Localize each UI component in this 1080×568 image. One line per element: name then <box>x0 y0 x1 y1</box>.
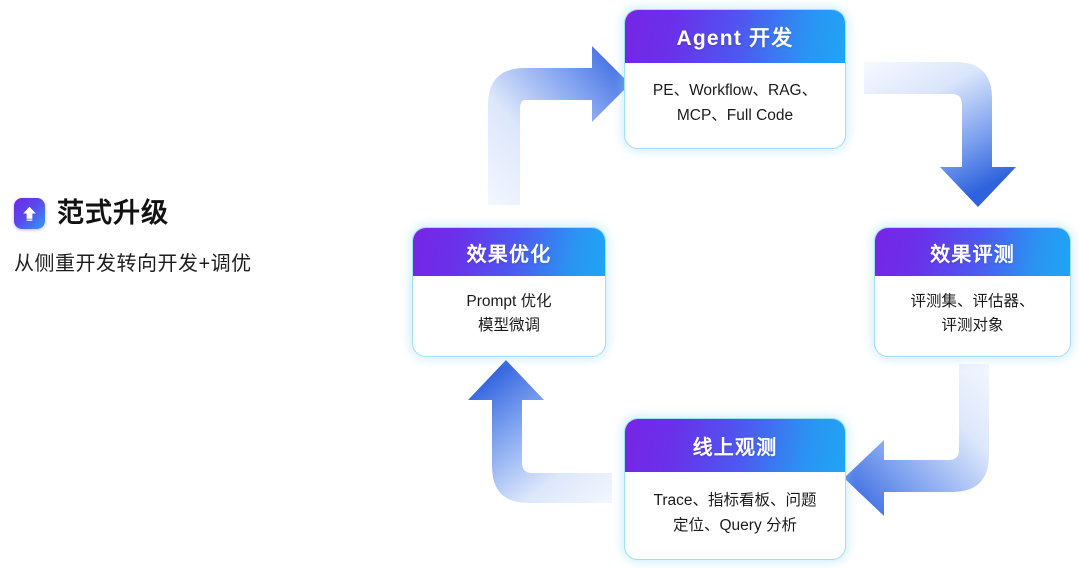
card-agent-dev[interactable]: Agent 开发 PE、Workflow、RAG、 MCP、Full Code <box>624 9 846 149</box>
card-eval-body: 评测集、评估器、 评测对象 <box>875 276 1070 356</box>
card-observe-body: Trace、指标看板、问题 定位、Query 分析 <box>625 472 845 559</box>
card-observe-title: 线上观测 <box>625 419 845 472</box>
paradigm-upgrade-panel: 范式升级 从侧重开发转向开发+调优 <box>14 198 394 277</box>
card-eval-title: 效果评测 <box>875 228 1070 276</box>
card-optimize-body: Prompt 优化 模型微调 <box>413 276 605 356</box>
page-title: 范式升级 <box>57 200 169 227</box>
card-agent-dev-body: PE、Workflow、RAG、 MCP、Full Code <box>625 63 845 148</box>
arrow-agent-dev-to-eval <box>864 62 1016 207</box>
card-agent-dev-title: Agent 开发 <box>625 10 845 63</box>
card-optimize-title: 效果优化 <box>413 228 605 276</box>
panel-subtitle: 从侧重开发转向开发+调优 <box>14 251 394 277</box>
arrow-observe-to-optimize <box>468 360 612 503</box>
card-optimize[interactable]: 效果优化 Prompt 优化 模型微调 <box>412 227 606 357</box>
card-observe[interactable]: 线上观测 Trace、指标看板、问题 定位、Query 分析 <box>624 418 846 560</box>
lifecycle-diagram: Agent 开发 PE、Workflow、RAG、 MCP、Full Code … <box>400 0 1080 568</box>
arrow-eval-to-observe <box>844 364 989 516</box>
card-eval[interactable]: 效果评测 评测集、评估器、 评测对象 <box>874 227 1071 357</box>
panel-heading-row: 范式升级 <box>14 198 394 229</box>
arrow-up-icon <box>14 198 45 229</box>
arrow-optimize-to-agent-dev <box>488 46 630 205</box>
